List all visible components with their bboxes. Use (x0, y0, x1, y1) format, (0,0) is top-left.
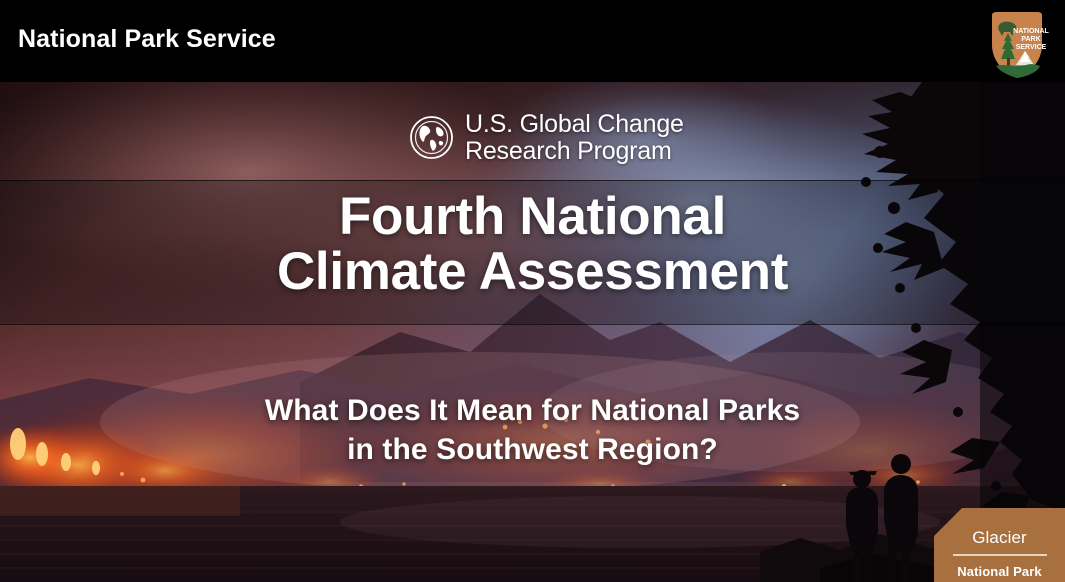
divider-line-top (0, 180, 1065, 181)
park-type: National Park (934, 564, 1065, 579)
page-title: Fourth National Climate Assessment (0, 190, 1065, 299)
logo-text-national: NATIONAL (1013, 28, 1049, 35)
page-subtitle-line2: in the Southwest Region? (0, 431, 1065, 470)
page-subtitle: What Does It Mean for National Parks in … (0, 392, 1065, 469)
page-subtitle-line1: What Does It Mean for National Parks (265, 394, 800, 427)
park-name: Glacier (934, 528, 1065, 548)
usgcrp-name: U.S. Global Change Research Program (465, 111, 684, 164)
page-header-title: National Park Service (18, 25, 276, 54)
divider-line-bottom (0, 324, 1065, 325)
page-title-line1: Fourth National (339, 187, 726, 246)
globe-icon (409, 115, 454, 160)
logo-text-service: SERVICE (1016, 44, 1047, 51)
park-caption-card: Glacier National Park (934, 508, 1065, 582)
usgcrp-name-line2: Research Program (465, 137, 672, 165)
site-header: National Park Service NATIONAL PARK SERV… (0, 0, 1065, 82)
page-title-line2: Climate Assessment (0, 245, 1065, 300)
park-caption-divider (953, 554, 1047, 556)
logo-text-park: PARK (1021, 36, 1040, 43)
nps-arrowhead-logo[interactable]: NATIONAL PARK SERVICE (982, 9, 1052, 81)
usgcrp-name-line1: U.S. Global Change (465, 110, 684, 138)
usgcrp-logo: U.S. Global Change Research Program (409, 111, 684, 164)
